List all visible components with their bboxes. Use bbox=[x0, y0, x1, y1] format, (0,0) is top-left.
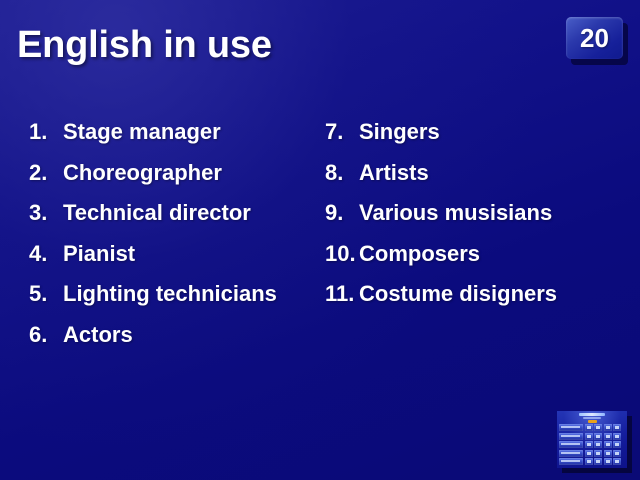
thumbnail-value-tile bbox=[604, 458, 612, 465]
list-item: 11. Costume disigners bbox=[325, 274, 625, 315]
thumbnail-header bbox=[559, 413, 625, 423]
list-item-number: 1. bbox=[29, 112, 63, 153]
list-item-label: Composers bbox=[359, 234, 480, 275]
thumbnail-value-tile bbox=[613, 450, 621, 457]
list-item-number: 6. bbox=[29, 315, 63, 356]
thumbnail-value-tile bbox=[585, 424, 593, 431]
thumbnail-row bbox=[559, 424, 625, 431]
game-board-thumbnail[interactable] bbox=[557, 411, 633, 473]
list-item-label: Technical director bbox=[63, 193, 251, 234]
list-item: 4. Pianist bbox=[29, 234, 329, 275]
thumbnail-category-tile bbox=[559, 450, 583, 457]
thumbnail-category-tile bbox=[559, 424, 583, 431]
list-item-number: 11. bbox=[325, 274, 359, 315]
list-item-number: 3. bbox=[29, 193, 63, 234]
thumbnail-category-tile bbox=[559, 458, 583, 465]
list-item-number: 7. bbox=[325, 112, 359, 153]
thumbnail-value-tile bbox=[594, 441, 602, 448]
list-item: 10. Composers bbox=[325, 234, 625, 275]
list-column-right: 7. Singers 8. Artists 9. Various musisia… bbox=[325, 112, 625, 315]
list-item-number: 4. bbox=[29, 234, 63, 275]
thumbnail-accent-bar bbox=[588, 420, 597, 423]
list-item-label: Choreographer bbox=[63, 153, 222, 194]
thumbnail-value-tile bbox=[604, 441, 612, 448]
thumbnail-board bbox=[557, 411, 627, 468]
thumbnail-title-bar bbox=[579, 413, 605, 416]
badge-number: 20 bbox=[580, 25, 609, 51]
thumbnail-value-tile bbox=[585, 441, 593, 448]
slide-number-badge[interactable]: 20 bbox=[566, 17, 628, 65]
thumbnail-grid bbox=[559, 424, 625, 465]
thumbnail-value-tile bbox=[604, 450, 612, 457]
thumbnail-row bbox=[559, 458, 625, 465]
list-item: 5. Lighting technicians bbox=[29, 274, 329, 315]
list-item-label: Pianist bbox=[63, 234, 135, 275]
thumbnail-value-tile bbox=[594, 450, 602, 457]
list-item: 3. Technical director bbox=[29, 193, 329, 234]
list-item-label: Artists bbox=[359, 153, 429, 194]
list-item: 1. Stage manager bbox=[29, 112, 329, 153]
thumbnail-value-tile bbox=[613, 441, 621, 448]
thumbnail-subtitle-bar bbox=[583, 417, 601, 419]
thumbnail-value-tile bbox=[585, 458, 593, 465]
list-item: 6. Actors bbox=[29, 315, 329, 356]
list-item: 8. Artists bbox=[325, 153, 625, 194]
thumbnail-value-tile bbox=[613, 458, 621, 465]
list-item-label: Singers bbox=[359, 112, 440, 153]
thumbnail-value-tile bbox=[594, 458, 602, 465]
thumbnail-category-tile bbox=[559, 441, 583, 448]
list-item-number: 2. bbox=[29, 153, 63, 194]
thumbnail-category-tile bbox=[559, 433, 583, 440]
list-item-number: 9. bbox=[325, 193, 359, 234]
thumbnail-value-tile bbox=[585, 433, 593, 440]
thumbnail-value-tile bbox=[604, 424, 612, 431]
thumbnail-value-tile bbox=[594, 433, 602, 440]
thumbnail-row bbox=[559, 450, 625, 457]
thumbnail-value-tile bbox=[613, 424, 621, 431]
list-item-number: 5. bbox=[29, 274, 63, 315]
list-item-label: Costume disigners bbox=[359, 274, 557, 315]
list-item-number: 8. bbox=[325, 153, 359, 194]
thumbnail-row bbox=[559, 441, 625, 448]
thumbnail-row bbox=[559, 433, 625, 440]
list-item-label: Actors bbox=[63, 315, 133, 356]
list-item-label: Lighting technicians bbox=[63, 274, 277, 315]
thumbnail-value-tile bbox=[585, 450, 593, 457]
list-item: 7. Singers bbox=[325, 112, 625, 153]
thumbnail-value-tile bbox=[604, 433, 612, 440]
list-item-number: 10. bbox=[325, 234, 359, 275]
list-item-label: Stage manager bbox=[63, 112, 221, 153]
thumbnail-value-tile bbox=[613, 433, 621, 440]
list-item: 9. Various musisians bbox=[325, 193, 625, 234]
thumbnail-value-tile bbox=[594, 424, 602, 431]
page-title: English in use bbox=[17, 22, 272, 68]
list-item: 2. Choreographer bbox=[29, 153, 329, 194]
list-item-label: Various musisians bbox=[359, 193, 552, 234]
badge-plate: 20 bbox=[566, 17, 623, 59]
slide-canvas: English in use 20 1. Stage manager 2. Ch… bbox=[0, 0, 640, 480]
list-column-left: 1. Stage manager 2. Choreographer 3. Tec… bbox=[29, 112, 329, 356]
